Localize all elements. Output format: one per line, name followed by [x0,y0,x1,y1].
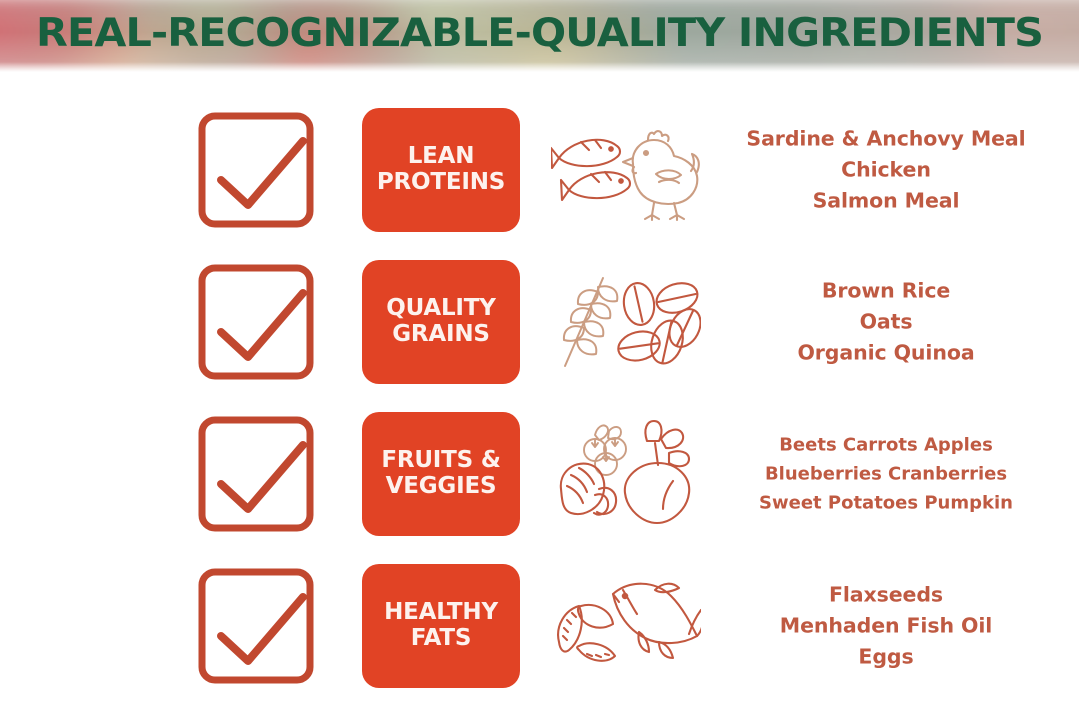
badge-healthy-fats[interactable]: HEALTHY FATS [362,564,520,688]
checkmark-icon [196,260,320,384]
badge-line-1: HEALTHY [384,600,498,626]
ingredient-row: FRUITS & VEGGIES [0,398,1079,550]
checkbox-lean-proteins[interactable] [196,108,320,232]
badge-quality-grains[interactable]: QUALITY GRAINS [362,260,520,384]
ingredient-row: QUALITY GRAINS [0,246,1079,398]
ingredient-item: Brown Rice [706,275,1066,306]
ingredient-list-fruits-veggies: Beets Carrots Apples Blueberries Cranber… [706,430,1066,517]
ingredient-row: HEALTHY FATS [0,550,1079,702]
checkbox-healthy-fats[interactable] [196,564,320,688]
badge-lean-proteins[interactable]: LEAN PROTEINS [362,108,520,232]
ingredient-row: LEAN PROTEINS [0,94,1079,246]
ingredient-item: Eggs [706,642,1066,673]
ingredient-list-quality-grains: Brown Rice Oats Organic Quinoa [706,275,1066,368]
flaxseed-and-fish-icon [548,571,703,681]
badge-fruits-veggies[interactable]: FRUITS & VEGGIES [362,412,520,536]
ingredient-item: Sweet Potatoes Pumpkin [706,489,1066,518]
checkmark-icon [196,108,320,232]
ingredient-item: Menhaden Fish Oil [706,610,1066,641]
ingredient-list-healthy-fats: Flaxseeds Menhaden Fish Oil Eggs [706,579,1066,672]
ingredient-item: Beets Carrots Apples [706,430,1066,459]
sweet-potato-blueberry-beet-icon [548,419,703,529]
badge-line-2: PROTEINS [377,170,505,196]
ingredient-item: Flaxseeds [706,579,1066,610]
badge-line-2: VEGGIES [386,474,497,500]
ingredient-item: Sardine & Anchovy Meal [706,123,1066,154]
checkmark-icon [196,412,320,536]
header-bottom-fade [0,62,1079,72]
badge-line-1: LEAN [408,144,475,170]
ingredient-item: Chicken [706,154,1066,185]
fish-and-chicken-icon [548,115,703,225]
header-banner: REAL-RECOGNIZABLE-QUALITY INGREDIENTS [0,0,1079,72]
page-title: REAL-RECOGNIZABLE-QUALITY INGREDIENTS [0,11,1079,56]
ingredient-rows: LEAN PROTEINS [0,72,1079,682]
checkbox-fruits-veggies[interactable] [196,412,320,536]
ingredient-item: Salmon Meal [706,186,1066,217]
ingredient-item: Blueberries Cranberries [706,459,1066,488]
ingredient-item: Organic Quinoa [706,338,1066,369]
badge-line-1: QUALITY [386,296,495,322]
ingredient-item: Oats [706,306,1066,337]
ingredients-infographic: REAL-RECOGNIZABLE-QUALITY INGREDIENTS LE… [0,0,1079,682]
checkbox-quality-grains[interactable] [196,260,320,384]
ingredient-list-lean-proteins: Sardine & Anchovy Meal Chicken Salmon Me… [706,123,1066,216]
wheat-and-grains-icon [548,267,703,377]
badge-line-2: GRAINS [392,322,490,348]
checkmark-icon [196,564,320,688]
badge-line-2: FATS [411,626,472,652]
badge-line-1: FRUITS & [381,448,500,474]
